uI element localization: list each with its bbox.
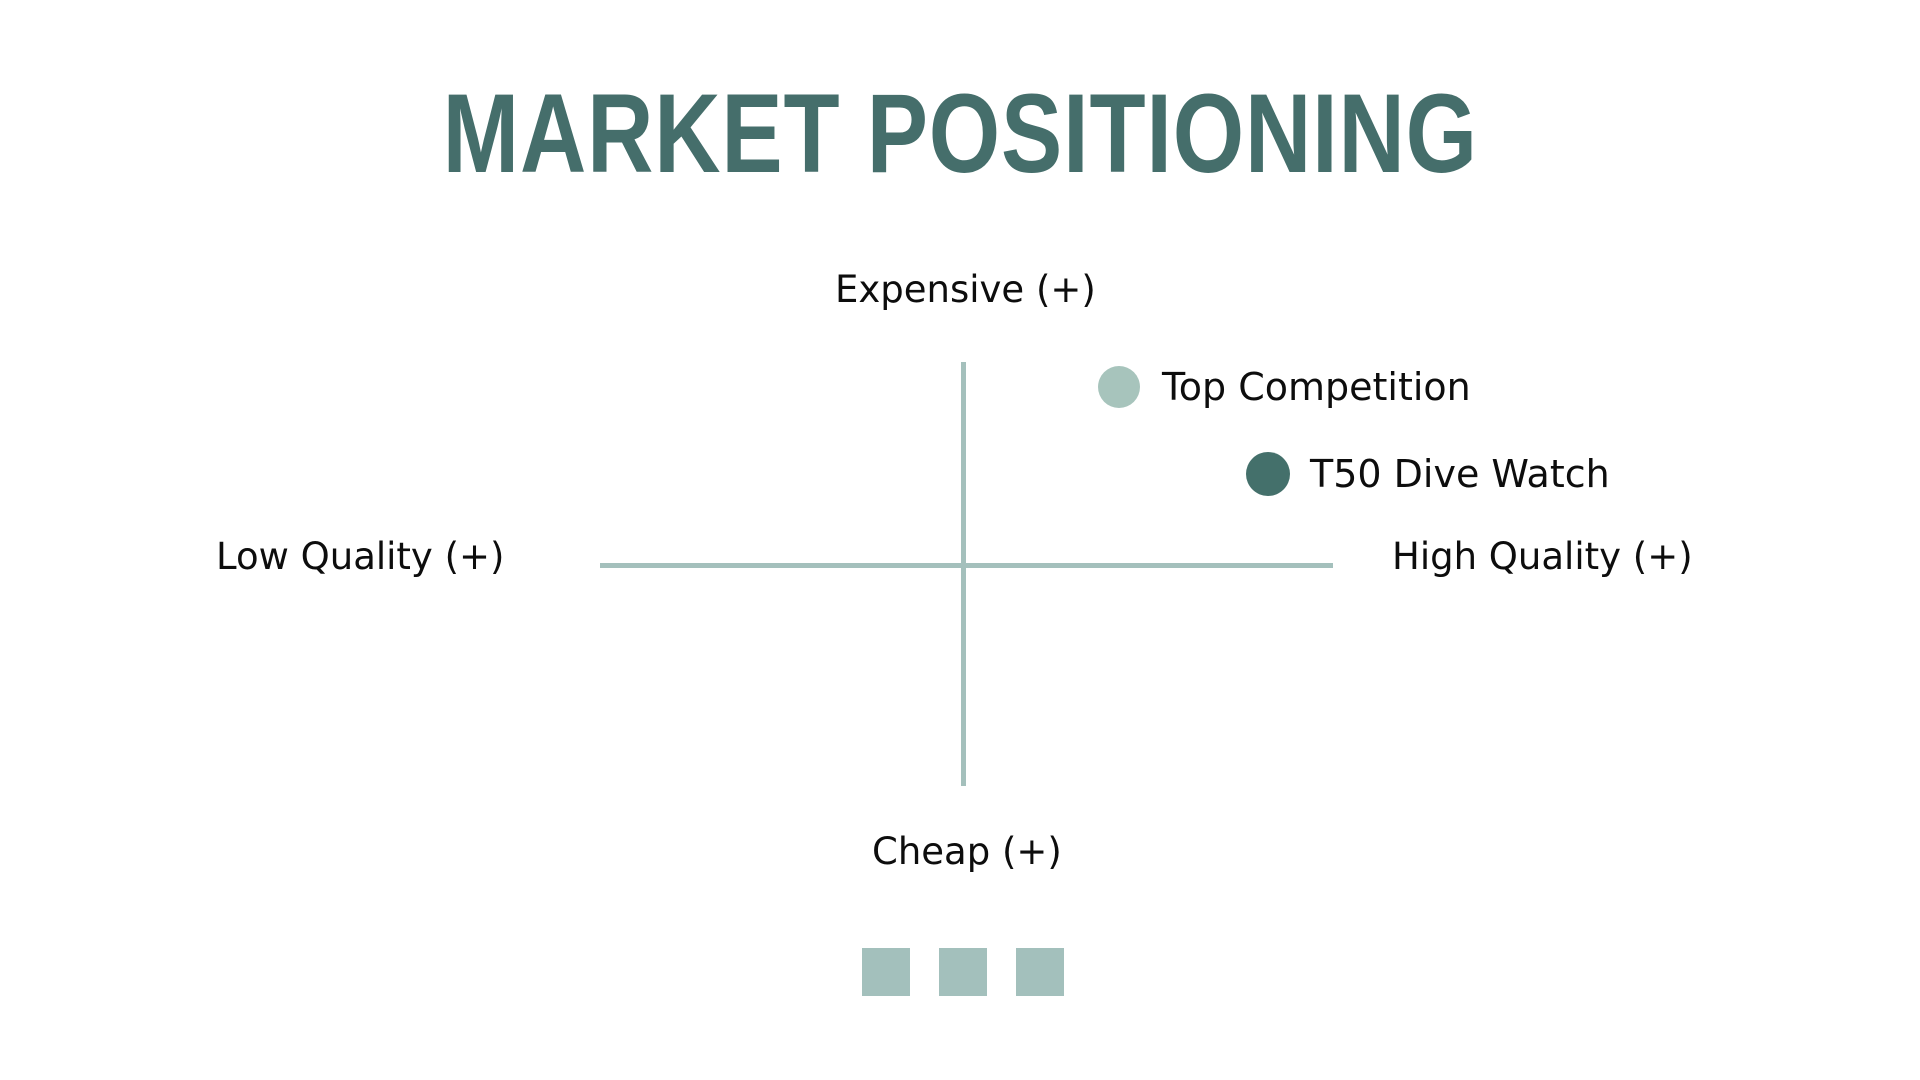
page-title-text: MARKET POSITIONING [442,78,1477,190]
decorative-square [1016,948,1064,996]
decorative-square [862,948,910,996]
slide-canvas: MARKET POSITIONING Expensive (+) Cheap (… [0,0,1920,1080]
axis-label-bottom: Cheap (+) [872,830,1062,874]
decorative-squares [862,948,1064,996]
axis-label-top: Expensive (+) [835,268,1096,312]
page-title: MARKET POSITIONING [0,78,1920,190]
circle-marker-icon [1098,366,1140,408]
circle-marker-icon [1246,452,1290,496]
axis-label-right: High Quality (+) [1392,535,1693,579]
data-point-label: Top Competition [1162,365,1471,409]
decorative-square [939,948,987,996]
data-point-top-competition[interactable]: Top Competition [1098,365,1471,409]
axis-label-left: Low Quality (+) [216,535,504,579]
axis-vertical-line [961,362,966,786]
axis-horizontal-line [600,563,1333,568]
data-point-label: T50 Dive Watch [1310,452,1610,496]
data-point-t50-dive-watch[interactable]: T50 Dive Watch [1246,452,1610,496]
